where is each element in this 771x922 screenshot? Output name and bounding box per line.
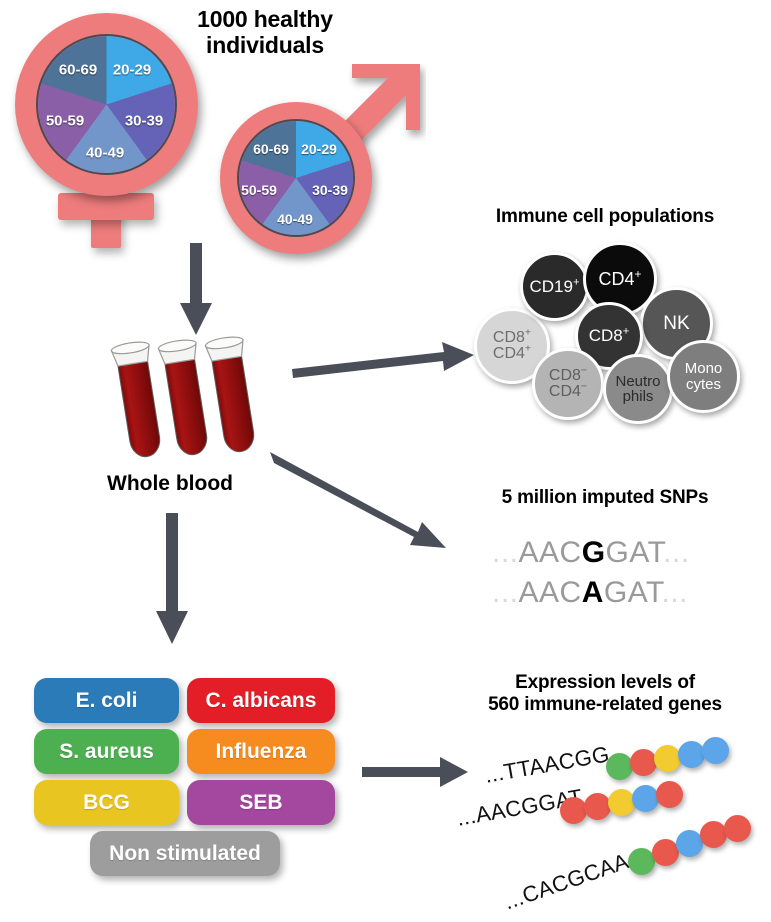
stimulation-label: Influenza [215, 740, 306, 764]
expression-title-line2: 560 immune-related genes [440, 694, 770, 716]
female-stem-cross [58, 193, 154, 220]
cell-cd8n-cd4n: CD8− CD4− [532, 348, 604, 420]
male-symbol: 20-29 30-39 40-49 50-59 60-69 [206, 64, 426, 254]
gene-bead [630, 749, 657, 776]
whole-blood-tubes [100, 335, 280, 465]
expression-section-title: Expression levels of 560 immune-related … [440, 672, 770, 716]
snp-prefix: ... [492, 576, 519, 609]
stimulation-grid: E. coli C. albicans S. aureus Influenza … [34, 678, 344, 893]
cell-cd8p-cd4p-line2: CD4 [493, 345, 525, 362]
stimulation-label: S. aureus [59, 740, 154, 764]
snp-left: AAC [519, 576, 582, 609]
snp-suffix: ... [662, 576, 689, 609]
snp-left: AAC [519, 536, 582, 569]
cell-cd8p-label: CD8 [589, 326, 623, 345]
gene-bead [676, 830, 703, 857]
female-slice-label-60-69: 60-69 [59, 62, 97, 79]
cell-nk-label: NK [663, 313, 689, 334]
stimulation-label: C. albicans [206, 689, 317, 713]
immune-cell-cluster: CD8+ CD4+ CD19+ CD4+ NK CD8+ CD8− CD4− [462, 240, 762, 430]
gene-bead [678, 741, 705, 768]
gene-bead [628, 848, 655, 875]
gene-bead [656, 781, 683, 808]
cell-cd19p-label: CD19 [529, 277, 572, 296]
gene-strand-sequence: ...TTAACGG [483, 741, 612, 788]
gene-bead [702, 737, 729, 764]
snp-highlight: G [582, 536, 606, 569]
arrow-stimulations-to-expression [362, 755, 472, 791]
cell-monocytes: Mono cytes [667, 340, 740, 413]
snp-right: GAT [606, 536, 664, 569]
snp-highlight: A [582, 576, 604, 609]
male-slice-label-30-39: 30-39 [312, 182, 348, 198]
snp-sequence-row: ...AACGGAT... [492, 536, 690, 570]
female-slice-label-20-29: 20-29 [113, 62, 151, 79]
gene-strand-sequence: ...CACGCAA [501, 848, 633, 915]
cell-neutrophils-line2: phils [615, 389, 660, 404]
expression-title-line1: Expression levels of [440, 672, 770, 694]
male-slice-label-50-59: 50-59 [241, 182, 277, 198]
immune-section-title: Immune cell populations [440, 206, 770, 228]
arrow-cohort-to-blood [176, 243, 216, 338]
cell-neutrophils: Neutro phils [603, 354, 673, 424]
stimulation-label: E. coli [76, 689, 138, 713]
cell-cd4p-label: CD4 [599, 269, 635, 289]
snp-right: GAT [604, 576, 662, 609]
stimulation-s-aureus[interactable]: S. aureus [34, 729, 179, 774]
stimulation-c-albicans[interactable]: C. albicans [187, 678, 335, 723]
gene-bead [608, 789, 635, 816]
cell-monocytes-line2: cytes [685, 377, 723, 392]
snp-sequence-row: ...AACAGAT... [492, 576, 688, 610]
gene-bead [584, 793, 611, 820]
stimulation-bcg[interactable]: BCG [34, 780, 179, 825]
female-symbol: 20-29 30-39 40-49 50-59 60-69 [8, 8, 218, 248]
stimulation-label: SEB [239, 791, 282, 815]
stimulation-non-stimulated[interactable]: Non stimulated [90, 831, 280, 876]
male-slice-label-20-29: 20-29 [301, 141, 337, 157]
male-slice-label-60-69: 60-69 [253, 141, 289, 157]
female-slice-label-50-59: 50-59 [46, 113, 84, 130]
cell-cd19p: CD19+ [520, 252, 589, 321]
stimulation-label: Non stimulated [109, 842, 261, 866]
stimulation-seb[interactable]: SEB [187, 780, 335, 825]
gene-bead [700, 821, 727, 848]
gene-bead [654, 745, 681, 772]
whole-blood-label: Whole blood [60, 472, 280, 496]
gene-bead [606, 753, 633, 780]
cell-monocytes-line1: Mono [685, 361, 723, 376]
female-slice-label-30-39: 30-39 [125, 113, 163, 130]
gene-bead [652, 839, 679, 866]
cell-neutrophils-line1: Neutro [615, 374, 660, 389]
cell-cd8n-cd4n-line1: CD8 [549, 367, 581, 384]
male-slice-label-40-49: 40-49 [277, 211, 313, 227]
cell-cd8n-cd4n-line2: CD4 [549, 383, 581, 400]
arrow-blood-to-snp [270, 445, 460, 555]
gene-bead [724, 815, 751, 842]
stimulation-e-coli[interactable]: E. coli [34, 678, 179, 723]
cell-cd8p-cd4p-line1: CD8 [493, 329, 525, 346]
snp-section-title: 5 million imputed SNPs [440, 487, 770, 509]
arrow-blood-to-immune [292, 330, 477, 390]
gene-bead [632, 785, 659, 812]
stimulation-label: BCG [83, 791, 130, 815]
arrow-blood-to-stimulations [152, 513, 192, 648]
female-slice-label-40-49: 40-49 [86, 145, 124, 162]
gene-bead [560, 797, 587, 824]
snp-suffix: ... [663, 536, 690, 569]
expression-strands: ...TTAACGG ...AACGGAT ...CACGCAA [460, 735, 771, 920]
snp-prefix: ... [492, 536, 519, 569]
figure-canvas: 1000 healthy individuals 20-29 30-39 40-… [0, 0, 771, 922]
stimulation-influenza[interactable]: Influenza [187, 729, 335, 774]
